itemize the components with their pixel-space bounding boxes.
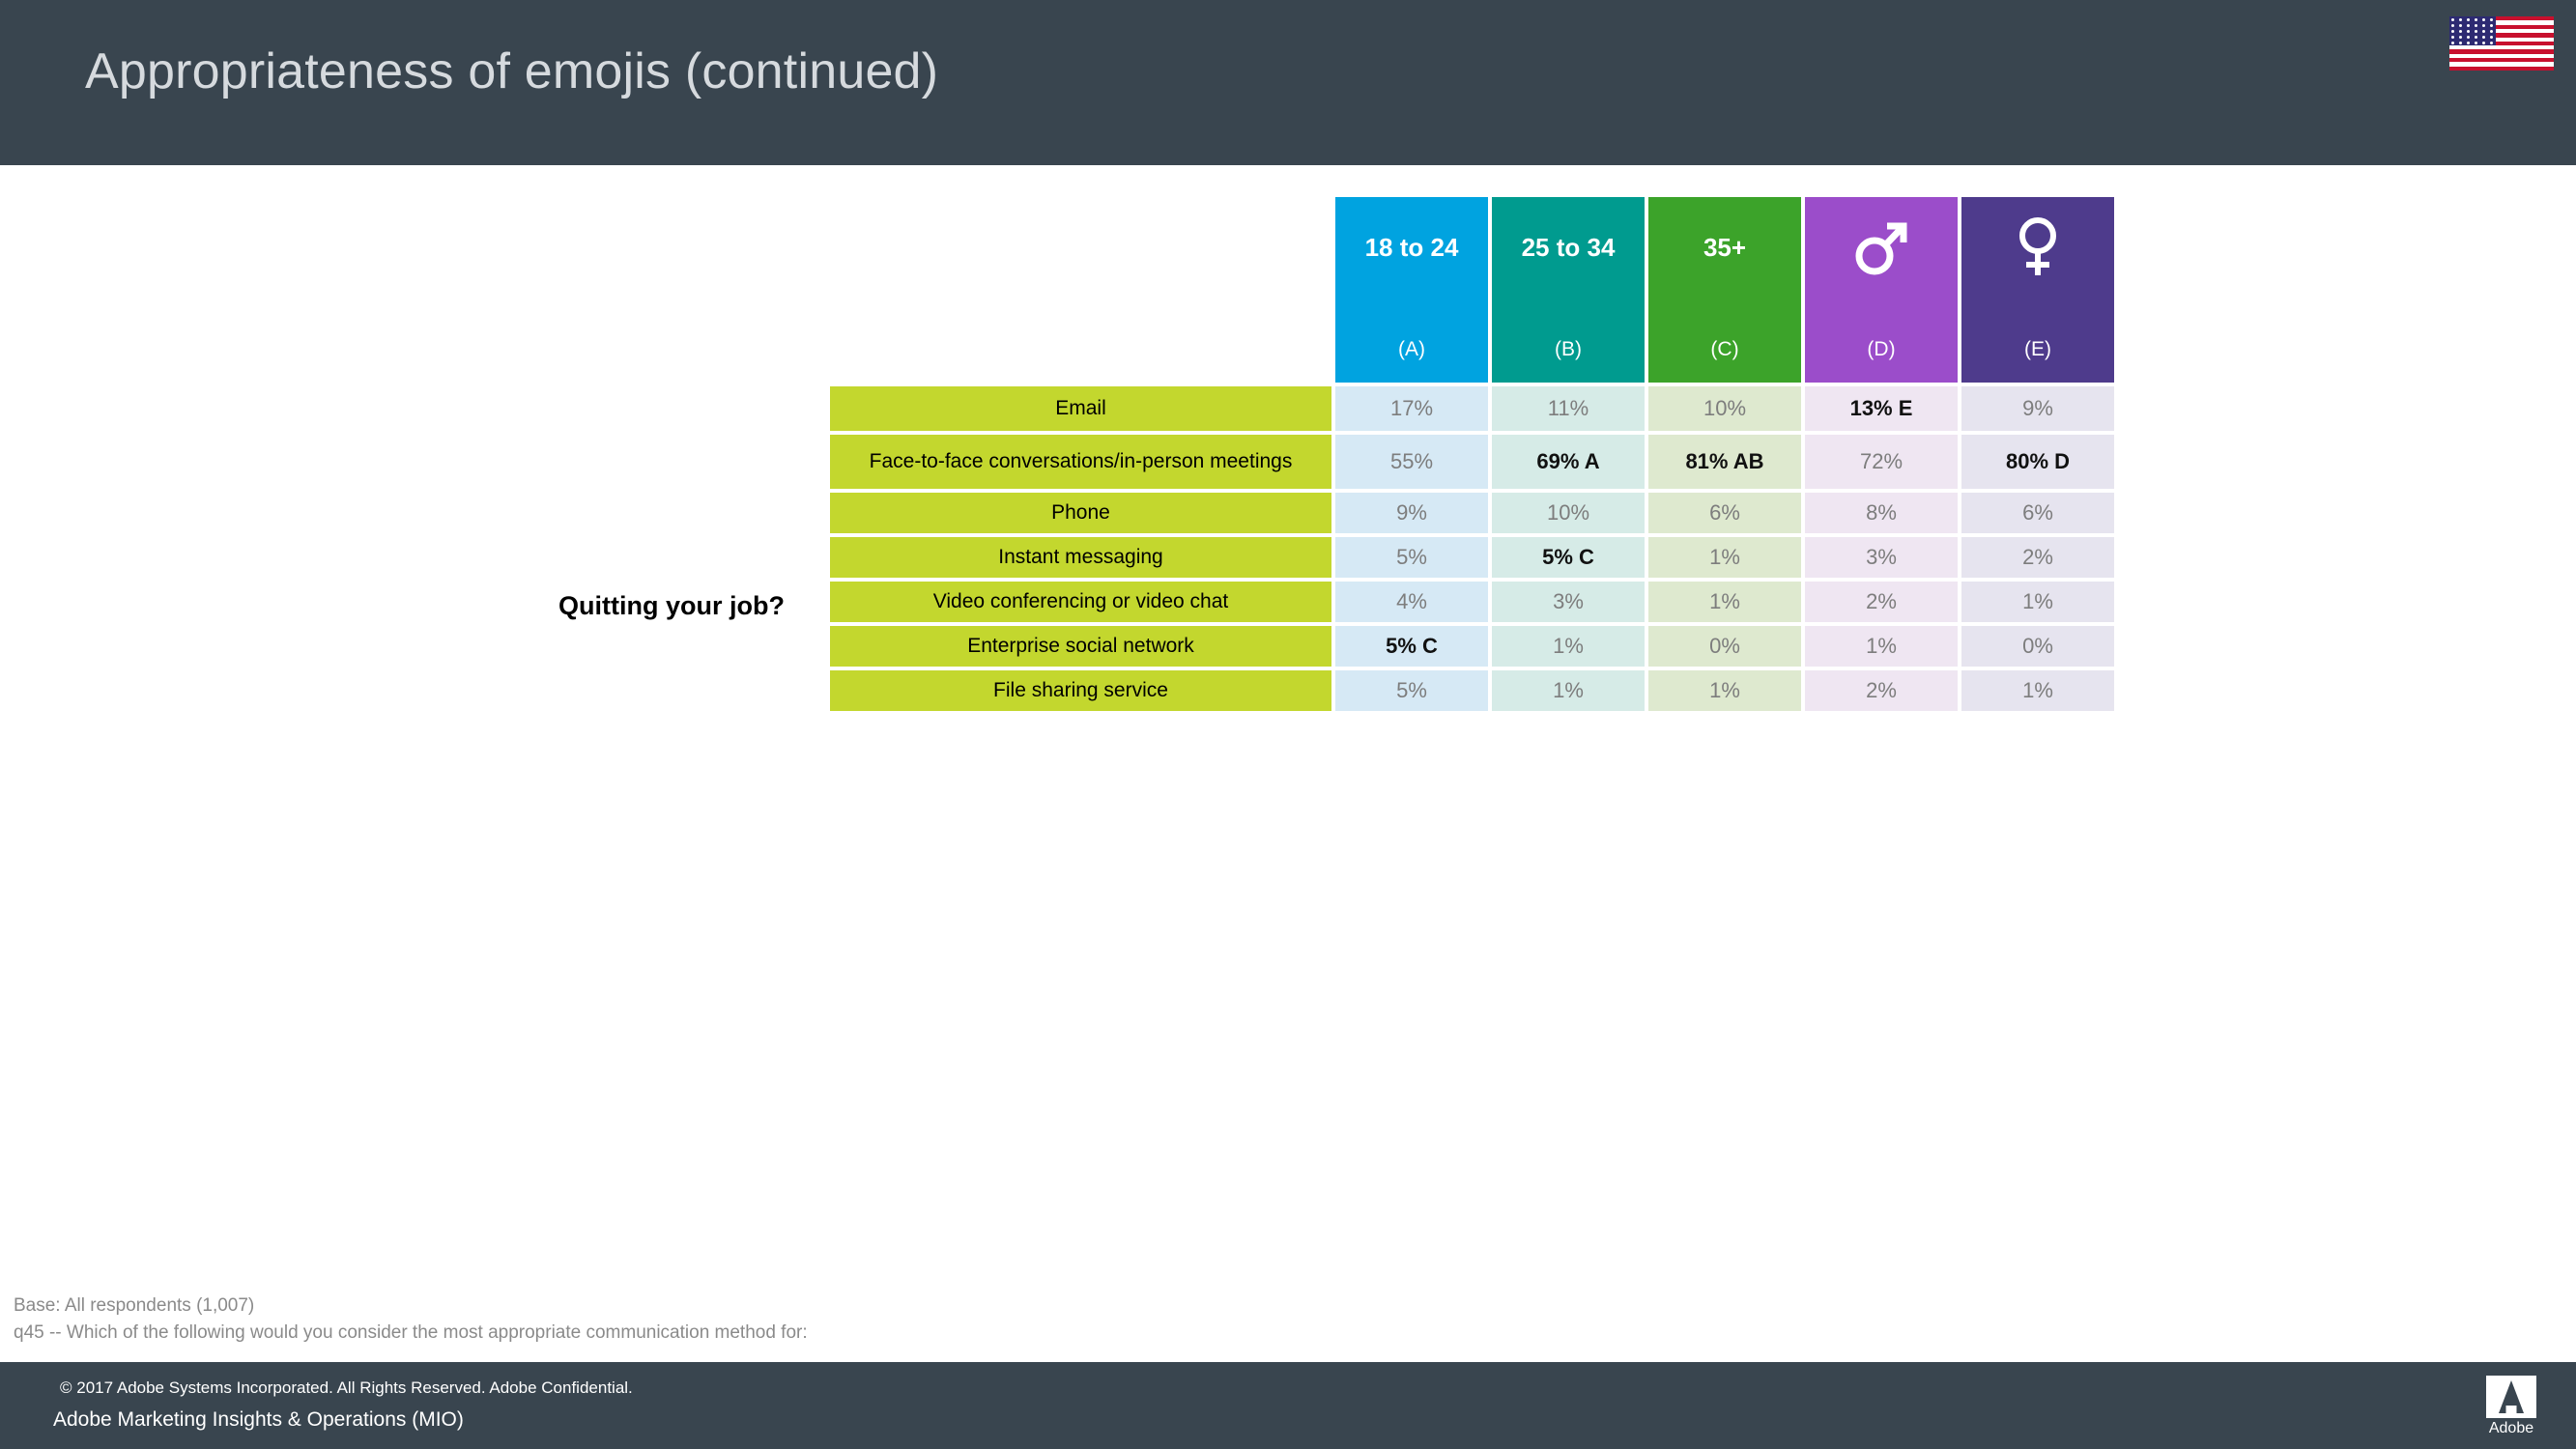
- flag-star: [2467, 18, 2470, 21]
- flag-star: [2482, 36, 2485, 39]
- data-cell: 2%: [1961, 537, 2114, 578]
- flag-star: [2482, 30, 2485, 33]
- flag-star: [2482, 18, 2485, 21]
- flag-star: [2451, 18, 2454, 21]
- flag-star: [2459, 24, 2462, 27]
- slide-header-bar: Appropriateness of emojis (continued): [0, 0, 2576, 165]
- female-symbol-glyph: [2011, 215, 2065, 279]
- adobe-wordmark: Adobe: [2470, 1420, 2553, 1437]
- data-cell: 2%: [1805, 670, 1958, 711]
- male-symbol-icon: [1805, 213, 1958, 282]
- row-label: Enterprise social network: [830, 626, 1331, 667]
- data-cell: 1%: [1648, 537, 1801, 578]
- flag-star: [2451, 30, 2454, 33]
- data-cell: 5% C: [1492, 537, 1645, 578]
- data-cell: 81% AB: [1648, 435, 1801, 489]
- flag-star: [2482, 42, 2485, 44]
- data-cell: 1%: [1961, 582, 2114, 622]
- data-cell: 0%: [1961, 626, 2114, 667]
- flag-star: [2475, 42, 2477, 44]
- data-cell: 5%: [1335, 670, 1488, 711]
- flag-star: [2490, 36, 2493, 39]
- data-cell: 3%: [1805, 537, 1958, 578]
- column-header-e: (E): [1961, 197, 2114, 383]
- slide-canvas: Appropriateness of emojis (continued) Qu…: [0, 0, 2576, 1449]
- flag-star: [2467, 30, 2470, 33]
- flag-star: [2459, 36, 2462, 39]
- table-body: Email17%11%10%13% E9%Face-to-face conver…: [830, 386, 2114, 711]
- flag-star: [2459, 18, 2462, 21]
- column-letter-d: (D): [1805, 338, 1958, 361]
- column-letter-a: (A): [1335, 338, 1488, 361]
- data-cell: 3%: [1492, 582, 1645, 622]
- flag-stripe: [2449, 67, 2554, 71]
- data-cell: 10%: [1492, 493, 1645, 533]
- data-cell: 4%: [1335, 582, 1488, 622]
- flag-star: [2451, 42, 2454, 44]
- column-title-b: 25 to 34: [1492, 234, 1645, 262]
- flag-star: [2467, 36, 2470, 39]
- flag-star: [2451, 36, 2454, 39]
- column-header-c: 35+ (C): [1648, 197, 1801, 383]
- row-label: Email: [830, 386, 1331, 431]
- row-label: Face-to-face conversations/in-person mee…: [830, 435, 1331, 489]
- flag-star: [2490, 18, 2493, 21]
- data-cell: 17%: [1335, 386, 1488, 431]
- flag-star: [2490, 30, 2493, 33]
- data-cell: 1%: [1648, 670, 1801, 711]
- flag-star: [2459, 30, 2462, 33]
- data-cell: 69% A: [1492, 435, 1645, 489]
- data-cell: 11%: [1492, 386, 1645, 431]
- data-cell: 1%: [1492, 670, 1645, 711]
- flag-star: [2459, 42, 2462, 44]
- table-row: Phone9%10%6%8%6%: [830, 493, 2114, 533]
- page-title: Appropriateness of emojis (continued): [85, 43, 938, 100]
- data-cell: 10%: [1648, 386, 1801, 431]
- female-symbol-icon: [1961, 213, 2114, 282]
- data-cell: 0%: [1648, 626, 1801, 667]
- data-cell: 80% D: [1961, 435, 2114, 489]
- table-row: Face-to-face conversations/in-person mee…: [830, 435, 2114, 489]
- male-symbol-glyph: [1854, 217, 1908, 277]
- data-cell: 8%: [1805, 493, 1958, 533]
- flag-star: [2490, 24, 2493, 27]
- data-cell: 13% E: [1805, 386, 1958, 431]
- flag-star: [2475, 36, 2477, 39]
- data-cell: 1%: [1492, 626, 1645, 667]
- column-header-a: 18 to 24 (A): [1335, 197, 1488, 383]
- adobe-mark-icon: [2486, 1376, 2536, 1418]
- flag-star: [2475, 18, 2477, 21]
- flag-star: [2490, 42, 2493, 44]
- data-cell: 1%: [1805, 626, 1958, 667]
- data-cell: 5% C: [1335, 626, 1488, 667]
- column-letter-b: (B): [1492, 338, 1645, 361]
- table-row: File sharing service5%1%1%2%1%: [830, 670, 2114, 711]
- question-label: Quitting your job?: [558, 591, 785, 621]
- data-cell: 6%: [1648, 493, 1801, 533]
- data-cell: 1%: [1648, 582, 1801, 622]
- table-row: Email17%11%10%13% E9%: [830, 386, 2114, 431]
- column-header-b: 25 to 34 (B): [1492, 197, 1645, 383]
- footnotes: Base: All respondents (1,007) q45 -- Whi…: [14, 1293, 808, 1346]
- table-row: Instant messaging5%5% C1%3%2%: [830, 537, 2114, 578]
- footnote-question: q45 -- Which of the following would you …: [14, 1320, 808, 1347]
- data-cell: 5%: [1335, 537, 1488, 578]
- column-header-d: (D): [1805, 197, 1958, 383]
- flag-star: [2475, 24, 2477, 27]
- row-label: Phone: [830, 493, 1331, 533]
- us-flag-icon: [2448, 15, 2555, 71]
- data-cell: 1%: [1961, 670, 2114, 711]
- row-label: Video conferencing or video chat: [830, 582, 1331, 622]
- data-cell: 72%: [1805, 435, 1958, 489]
- footnote-base: Base: All respondents (1,007): [14, 1293, 808, 1320]
- data-cell: 2%: [1805, 582, 1958, 622]
- data-cell: 9%: [1335, 493, 1488, 533]
- table-row: Enterprise social network5% C1%0%1%0%: [830, 626, 2114, 667]
- header-corner-spacer: [830, 197, 1331, 383]
- data-cell: 6%: [1961, 493, 2114, 533]
- flag-star: [2482, 24, 2485, 27]
- flag-star: [2467, 42, 2470, 44]
- slide-footer-bar: © 2017 Adobe Systems Incorporated. All R…: [0, 1362, 2576, 1449]
- table-row: Video conferencing or video chat4%3%1%2%…: [830, 582, 2114, 622]
- column-letter-e: (E): [1961, 338, 2114, 361]
- row-label: File sharing service: [830, 670, 1331, 711]
- column-title-c: 35+: [1648, 234, 1801, 262]
- column-title-a: 18 to 24: [1335, 234, 1488, 262]
- results-table: 18 to 24 (A) 25 to 34 (B) 35+ (C): [826, 193, 2118, 715]
- copyright-text: © 2017 Adobe Systems Incorporated. All R…: [60, 1378, 633, 1398]
- row-label: Instant messaging: [830, 537, 1331, 578]
- flag-star: [2451, 24, 2454, 27]
- table-header-row: 18 to 24 (A) 25 to 34 (B) 35+ (C): [830, 197, 2114, 383]
- data-cell: 9%: [1961, 386, 2114, 431]
- organization-text: Adobe Marketing Insights & Operations (M…: [53, 1408, 464, 1432]
- flag-canton: [2449, 16, 2496, 45]
- column-letter-c: (C): [1648, 338, 1801, 361]
- data-cell: 55%: [1335, 435, 1488, 489]
- adobe-logo: Adobe: [2470, 1376, 2553, 1437]
- flag-star: [2475, 30, 2477, 33]
- flag-star: [2467, 24, 2470, 27]
